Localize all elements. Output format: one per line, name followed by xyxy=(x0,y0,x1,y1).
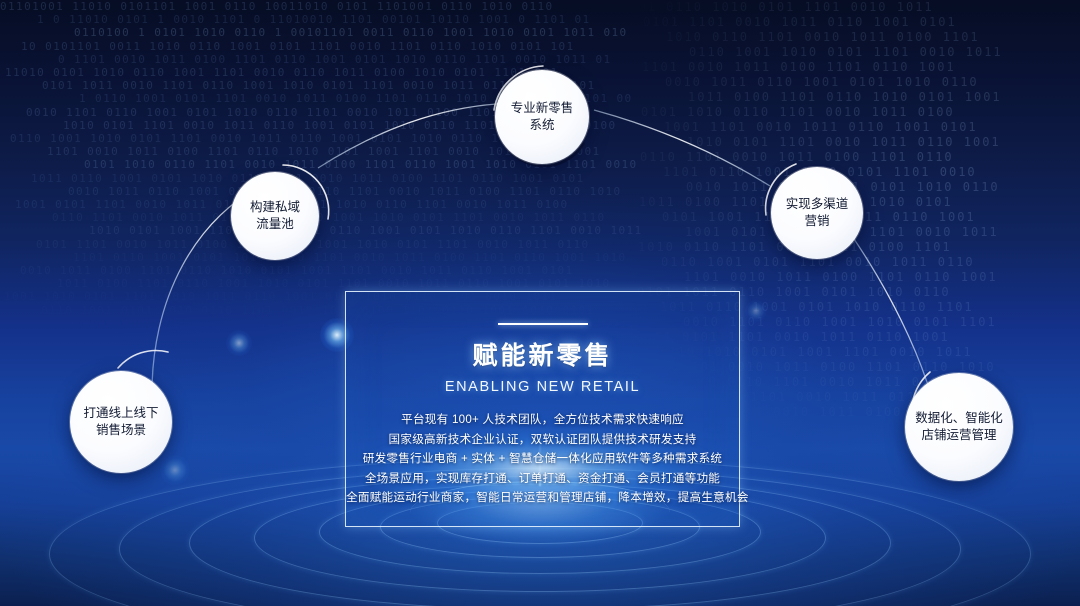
node-upper-right-label: 实现多渠道营销 xyxy=(780,196,855,231)
node-top-label: 专业新零售系统 xyxy=(505,100,580,135)
binary-row: 1101 0010 1011 0100 1101 0110 1001 xyxy=(642,60,1080,75)
binary-row: 0101 1101 0010 1011 0110 1001 0101 xyxy=(643,15,1080,30)
central-info-panel: 赋能新零售 ENABLING NEW RETAIL 平台现有 100+ 人技术团… xyxy=(345,291,740,527)
binary-row: 1101 0010 1011 0100 1101 0110 1010 xyxy=(682,360,1080,375)
binary-row: 0010 1011 0110 1001 0101 1010 0110 xyxy=(665,75,1080,90)
node-upper-left-label: 构建私域流量池 xyxy=(244,199,306,234)
binary-row: 1011 0100 1101 0110 1001 1010 0101 1101 … xyxy=(57,277,1080,290)
binary-row: 0110 1001 0101 1101 0010 1011 0110 xyxy=(661,255,1080,270)
binary-row: 1011 0100 1101 0110 1010 0101 1001 xyxy=(688,90,1080,105)
binary-row: 0110100 1 0101 1010 0110 1 00101101 0011… xyxy=(74,26,1080,39)
binary-row: 1001 0110 1010 0101 1101 0010 1011 xyxy=(620,0,1080,15)
node-lower-right[interactable]: 数据化、智能化店铺运营管理 xyxy=(905,373,1013,481)
node-lower-left[interactable]: 打通线上线下销售场景 xyxy=(70,371,172,473)
binary-row: 1010 0101 1101 0010 1011 0110 1001 xyxy=(687,135,1080,150)
panel-body-line: 研发零售行业电商 + 实体 + 智慧仓储一体化应用软件等多种需求系统 xyxy=(346,449,739,469)
binary-row: 0010 1101 0110 1001 1010 0101 1101 xyxy=(683,315,1080,330)
binary-row: 1101 0110 1001 1010 0101 1101 0010 xyxy=(663,165,1080,180)
binary-row: 1 0 11010 0101 1 0010 1101 0 11010010 11… xyxy=(37,13,1080,26)
binary-row: 0101 1001 1101 0010 1011 0110 1001 xyxy=(662,210,1080,225)
binary-row: 0101 1101 0010 1011 0100 1101 0110 1001 … xyxy=(36,238,1080,251)
ambient-glow-dot xyxy=(745,300,767,322)
binary-row: 0110 1001 1010 0101 1101 0010 1011 xyxy=(689,45,1080,60)
binary-row: 0101 1010 0110 1101 0010 1011 0100 xyxy=(641,105,1080,120)
binary-row: 1001 0101 1010 0110 1101 0010 1011 xyxy=(685,225,1080,240)
binary-row: 1011 0110 1001 0101 1010 0110 1101 0010 … xyxy=(31,172,1080,185)
node-lower-right-label: 数据化、智能化店铺运营管理 xyxy=(909,410,1009,445)
slide-canvas: 01101001 11010 0101101 1001 0110 1001101… xyxy=(0,0,1080,606)
binary-row: 0110 1101 0010 1011 0100 1101 0110 xyxy=(640,150,1080,165)
ambient-glow-dot xyxy=(226,330,252,356)
panel-body-text: 平台现有 100+ 人技术团队，全方位技术需求快速响应国家级高新技术企业认证，双… xyxy=(346,410,739,508)
binary-row: 0010 1011 0100 1101 0110 1010 0101 1001 … xyxy=(20,264,1080,277)
binary-row: 0110 1101 0010 1011 0100 1101 0110 1001 … xyxy=(52,211,1080,224)
node-top[interactable]: 专业新零售系统 xyxy=(495,70,589,164)
binary-row: 0010 1011 0110 1001 0101 1010 0110 xyxy=(686,180,1080,195)
ambient-glow-dot xyxy=(160,455,190,485)
binary-row: 1101 0010 1011 0100 1101 0110 1001 xyxy=(684,270,1080,285)
panel-content: 赋能新零售 ENABLING NEW RETAIL 平台现有 100+ 人技术团… xyxy=(346,292,739,508)
binary-row: 0101 1010 0110 1101 0010 1011 0100 1101 … xyxy=(84,158,1080,171)
binary-row: 1001 0101 1101 0010 1011 0110 1001 0101 … xyxy=(15,198,1080,211)
node-upper-left[interactable]: 构建私域流量池 xyxy=(231,172,319,260)
binary-row: 10 0101101 0011 1010 0110 1001 0101 1101… xyxy=(21,40,1080,53)
node-upper-right[interactable]: 实现多渠道营销 xyxy=(771,167,863,259)
panel-title-en: ENABLING NEW RETAIL xyxy=(346,379,739,395)
binary-row: 1010 0110 1101 0010 1011 0100 1101 xyxy=(638,240,1080,255)
binary-row: 0110 1101 0010 1011 0100 1101 0110 xyxy=(681,405,1080,420)
panel-title-cn: 赋能新零售 xyxy=(346,336,739,372)
panel-body-line: 全场景应用，实现库存打通、订单打通、资金打通、会员打通等功能 xyxy=(346,469,739,489)
binary-texture-background: 01101001 11010 0101101 1001 0110 1001101… xyxy=(0,0,1080,330)
panel-body-line: 平台现有 100+ 人技术团队，全方位技术需求快速响应 xyxy=(346,410,739,430)
binary-row: 1101 0110 1001 0101 1010 0110 1101 0010 … xyxy=(73,251,1080,264)
binary-row: 0010 1011 0110 1001 0101 1010 0110 1101 … xyxy=(68,185,1080,198)
binary-row: 1010 0110 1101 0010 1011 0100 1101 xyxy=(666,30,1080,45)
binary-row: 0 1101 0010 1011 0100 1101 0110 1001 010… xyxy=(58,53,1080,66)
binary-row: 01101001 11010 0101101 1001 0110 1001101… xyxy=(0,0,1080,13)
node-lower-left-label: 打通线上线下销售场景 xyxy=(77,405,164,440)
title-divider-rule xyxy=(498,323,588,325)
panel-body-line: 全面赋能运动行业商家，智能日常运营和管理店铺，降本增效，提高生意机会 xyxy=(346,488,739,508)
panel-body-line: 国家级高新技术企业认证，双软认证团队提供技术研发支持 xyxy=(346,430,739,450)
binary-row: 1001 1101 0010 1011 0110 1001 0101 xyxy=(664,120,1080,135)
